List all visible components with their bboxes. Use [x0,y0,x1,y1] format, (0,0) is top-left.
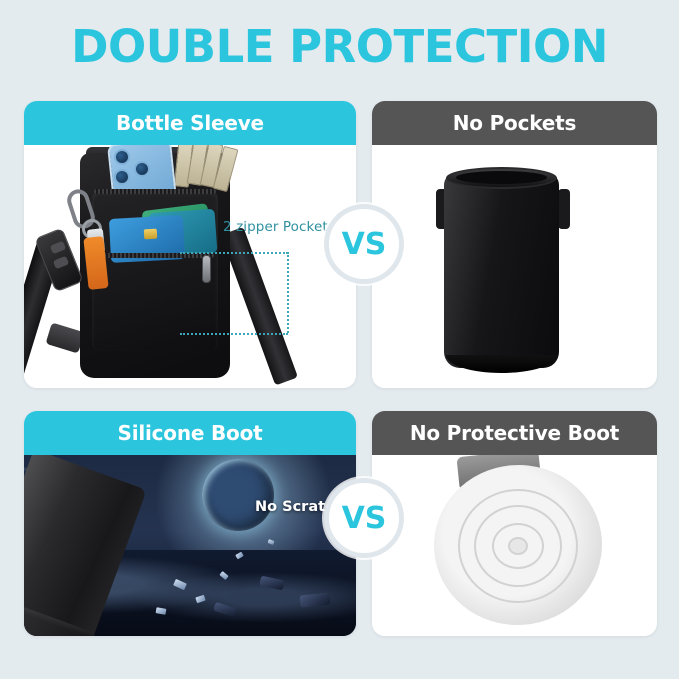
panel-body-no-protective-boot [372,455,657,636]
planet-highlight [202,459,274,531]
panel-no-pockets: No Pockets [372,101,657,388]
panel-header-no-protective-boot: No Protective Boot [372,411,657,455]
zipper-track-upper [94,189,216,194]
phone-camera-lens [134,161,150,177]
sleeve-inner-opening [456,171,547,184]
panel-body-silicone-boot: No Scratch [24,455,356,636]
vs-badge-bottom: VS [324,478,404,558]
panel-body-no-pockets [372,145,657,388]
bottle-sleeve-illustration: 2 zipper Pockets [24,145,356,388]
phone-camera-lens [114,169,130,185]
panel-bottle-sleeve: Bottle Sleeve [24,101,356,388]
panel-header-silicone-boot: Silicone Boot [24,411,356,455]
side-loop-right [558,189,570,229]
infographic-page: DOUBLE PROTECTION Bottle Sleeve [0,0,679,679]
panel-body-bottle-sleeve: 2 zipper Pockets [24,145,356,388]
strap-adjuster [46,323,85,354]
callout-dotted-line-right [287,252,289,333]
callout-dotted-line-bottom [180,333,288,335]
scratch-damage [429,459,608,630]
panel-silicone-boot: Silicone Boot No Scratch [24,411,356,636]
phone-camera-lens [114,149,130,165]
page-title: DOUBLE PROTECTION [0,20,679,73]
vs-badge-top: VS [324,204,404,284]
callout-label-zipper-pockets: 2 zipper Pockets [223,219,335,235]
callout-dotted-line-top [180,252,288,254]
card-chip [144,229,158,240]
sleeve-bottom [446,355,557,373]
panel-header-no-pockets: No Pockets [372,101,657,145]
zipper-pull [202,255,211,283]
panel-no-protective-boot: No Protective Boot [372,411,657,636]
plain-black-sleeve [444,173,559,368]
panel-header-bottle-sleeve: Bottle Sleeve [24,101,356,145]
